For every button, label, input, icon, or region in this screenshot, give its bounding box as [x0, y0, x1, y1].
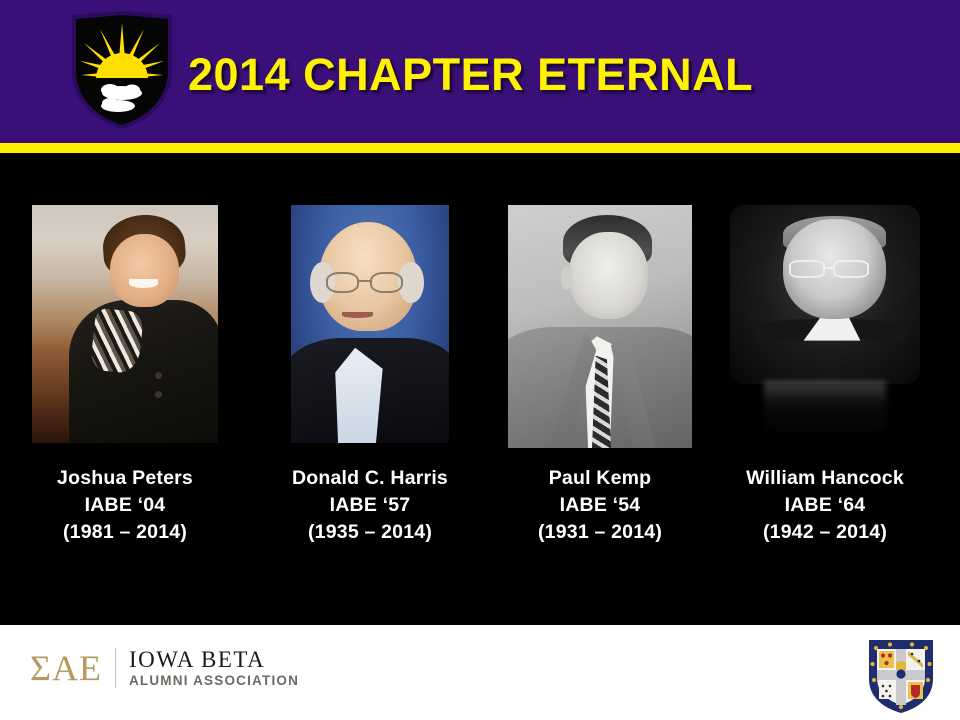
slide-header: 2014 CHAPTER ETERNAL [0, 0, 960, 143]
sae-greek-letters: ΣΑΕ [30, 648, 102, 688]
memorial-dates: (1935 – 2014) [259, 519, 481, 546]
portrait-donald-harris [291, 205, 449, 443]
page-title: 2014 CHAPTER ETERNAL [188, 46, 928, 106]
memorial-caption: Paul Kemp IABE ‘54 (1931 – 2014) [498, 465, 702, 546]
memorial-caption: William Hancock IABE ‘64 (1942 – 2014) [722, 465, 928, 546]
logo-divider [115, 648, 116, 688]
memorial-chapter-year: IABE ‘57 [259, 492, 481, 519]
memorial-caption: Joshua Peters IABE ‘04 (1981 – 2014) [18, 465, 232, 546]
memorial-chapter-year: IABE ‘54 [498, 492, 702, 519]
sunburst-shield-crest-icon [66, 9, 178, 131]
memorial-name: Donald C. Harris [259, 465, 481, 492]
memorial-caption: Donald C. Harris IABE ‘57 (1935 – 2014) [259, 465, 481, 546]
memorial-name: Paul Kemp [498, 465, 702, 492]
portrait-joshua-peters [32, 205, 218, 443]
header-divider-rule [0, 143, 960, 153]
memorial-name: William Hancock [722, 465, 928, 492]
portrait-william-hancock [730, 205, 920, 443]
slide-canvas: 2014 CHAPTER ETERNAL Joshua Peters [0, 0, 960, 720]
memorial-grid: Joshua Peters IABE ‘04 (1981 – 2014) [0, 153, 960, 625]
memorial-name: Joshua Peters [18, 465, 232, 492]
memorial-dates: (1931 – 2014) [498, 519, 702, 546]
memorial-dates: (1981 – 2014) [18, 519, 232, 546]
memorial-dates: (1942 – 2014) [722, 519, 928, 546]
chapter-name-label: IOWA BETA [129, 647, 299, 672]
sae-coat-of-arms-icon [866, 637, 936, 715]
memorial-chapter-year: IABE ‘64 [722, 492, 928, 519]
sae-alumni-logo: ΣΑΕ IOWA BETA ALUMNI ASSOCIATION [30, 645, 299, 691]
slide-footer: ΣΑΕ IOWA BETA ALUMNI ASSOCIATION [0, 625, 960, 720]
association-label: ALUMNI ASSOCIATION [129, 672, 299, 689]
portrait-paul-kemp [508, 205, 692, 448]
memorial-chapter-year: IABE ‘04 [18, 492, 232, 519]
